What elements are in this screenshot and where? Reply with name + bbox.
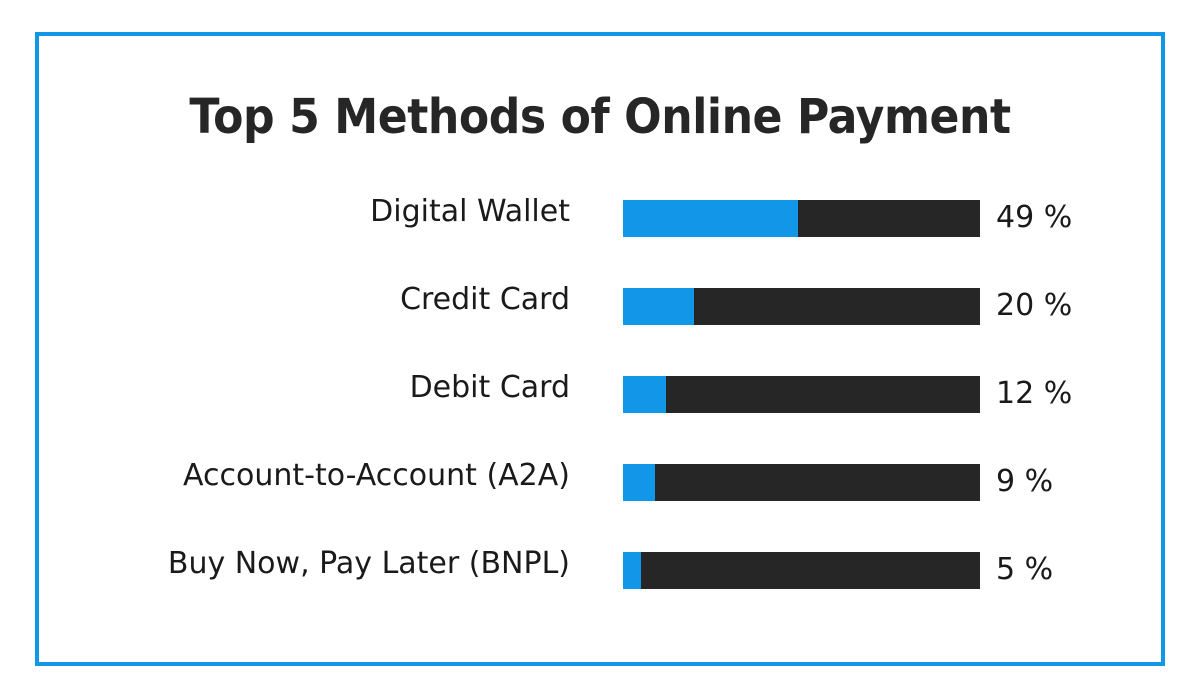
bar-track xyxy=(623,200,980,237)
bar-fill xyxy=(623,200,798,237)
bar-label: Debit Card xyxy=(110,362,570,414)
bar-fill xyxy=(623,464,655,501)
bar-value: 5 % xyxy=(996,538,1053,602)
bar-track xyxy=(623,552,980,589)
bar-value: 49 % xyxy=(996,186,1072,250)
bar-fill xyxy=(623,288,694,325)
bar-label: Digital Wallet xyxy=(110,186,570,238)
bar-value: 12 % xyxy=(996,362,1072,426)
bar-label: Buy Now, Pay Later (BNPL) xyxy=(110,538,570,590)
bar-track xyxy=(623,288,980,325)
bar-label: Credit Card xyxy=(110,274,570,326)
infographic-canvas: Top 5 Methods of Online Payment Digital … xyxy=(0,0,1200,700)
bar-fill xyxy=(623,552,641,589)
bar-fill xyxy=(623,376,666,413)
table-row: Account-to-Account (A2A) 9 % xyxy=(0,450,1200,538)
table-row: Credit Card 20 % xyxy=(0,274,1200,362)
bar-track xyxy=(623,376,980,413)
bar-value: 9 % xyxy=(996,450,1053,514)
bar-track xyxy=(623,464,980,501)
bar-label: Account-to-Account (A2A) xyxy=(110,450,570,502)
bar-value: 20 % xyxy=(996,274,1072,338)
bar-chart: Digital Wallet 49 % Credit Card 20 % Deb… xyxy=(0,186,1200,626)
table-row: Buy Now, Pay Later (BNPL) 5 % xyxy=(0,538,1200,626)
table-row: Digital Wallet 49 % xyxy=(0,186,1200,274)
table-row: Debit Card 12 % xyxy=(0,362,1200,450)
page-title: Top 5 Methods of Online Payment xyxy=(48,88,1152,146)
